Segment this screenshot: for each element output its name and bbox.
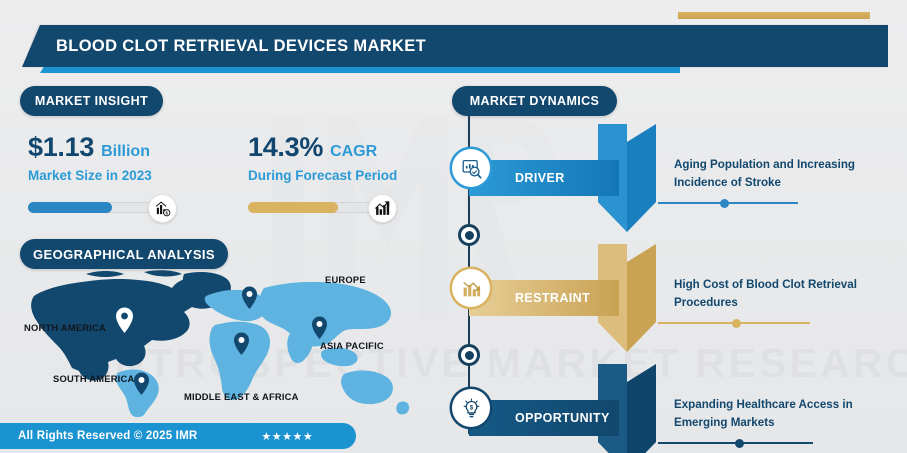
footer-bar: All Rights Reserved © 2025 IMR ★★★★★: [0, 423, 356, 449]
restraint-dot: [732, 319, 741, 328]
opportunity-dot: [735, 439, 744, 448]
restraint-text: High Cost of Blood Clot Retrieval Proced…: [674, 276, 904, 312]
geo-label-asia-pacific: ASIA PACIFIC: [320, 340, 384, 351]
stat-caption: During Forecast Period: [248, 168, 408, 183]
lightbulb-dollar-icon: $: [452, 389, 490, 427]
bar-chart-dollar-icon: $: [148, 194, 177, 223]
infographic-page: INTROSPECTIVE MARKET RESEARCH BLOOD CLOT…: [0, 0, 907, 453]
stat-market-size: $1.13 Billion Market Size in 2023 $: [28, 132, 188, 222]
svg-text:$: $: [469, 404, 473, 411]
region-europe: [205, 290, 267, 321]
rating-stars: ★★★★★: [261, 430, 313, 443]
stat-caption: Market Size in 2023: [28, 168, 188, 183]
copyright-text: All Rights Reserved © 2025 IMR: [0, 430, 197, 442]
stat-unit: CAGR: [330, 143, 377, 161]
header-gold-accent: [678, 12, 870, 19]
stat-value: $1.13: [28, 132, 94, 163]
dynamics-item-opportunity[interactable]: OPPORTUNITY $ Expanding Healthcare Acces…: [452, 390, 907, 446]
dynamics-item-restraint[interactable]: RESTRAINT High Cost of Blood Clot Retrie…: [452, 270, 907, 326]
magnifier-chart-icon: [452, 149, 490, 187]
page-title: BLOOD CLOT RETRIEVAL DEVICES MARKET: [22, 37, 426, 56]
opportunity-label: OPPORTUNITY: [515, 411, 610, 425]
progress-fill: [248, 202, 338, 213]
driver-dot: [720, 199, 729, 208]
stat-unit: Billion: [101, 143, 150, 161]
timeline-node: [458, 224, 480, 246]
header-band: BLOOD CLOT RETRIEVAL DEVICES MARKET: [22, 25, 888, 67]
region-india: [287, 333, 312, 363]
region-new-zealand: [396, 401, 409, 414]
dynamics-item-driver[interactable]: DRIVER Aging Population and Increasing I…: [452, 150, 907, 206]
stat-progress-bar: $: [28, 194, 188, 222]
driver-bar: DRIVER: [469, 160, 619, 196]
market-insight-badge: MARKET INSIGHT: [20, 86, 163, 116]
stat-value: 14.3%: [248, 132, 323, 163]
restraint-label: RESTRAINT: [515, 291, 590, 305]
geo-label-north-america: NORTH AMERICA: [24, 322, 106, 333]
growth-chart-arrow-icon: [368, 194, 397, 223]
restraint-bar: RESTRAINT: [469, 280, 619, 316]
opportunity-bar: OPPORTUNITY: [469, 400, 619, 436]
geo-label-middle-east-africa: MIDDLE EAST & AFRICA: [184, 391, 299, 402]
stat-cagr: 14.3% CAGR During Forecast Period: [248, 132, 408, 222]
market-dynamics-timeline: DRIVER Aging Population and Increasing I…: [452, 116, 907, 446]
geo-label-south-america: SOUTH AMERICA: [53, 373, 134, 384]
opportunity-text: Expanding Healthcare Access in Emerging …: [674, 396, 904, 432]
stat-progress-bar: [248, 194, 408, 222]
timeline-node: [458, 344, 480, 366]
declining-bar-chart-icon: [452, 269, 490, 307]
region-australia: [341, 371, 393, 405]
geographical-analysis-badge: GEOGRAPHICAL ANALYSIS: [20, 239, 228, 269]
region-asia: [259, 282, 391, 347]
driver-text: Aging Population and Increasing Incidenc…: [674, 156, 904, 192]
progress-fill: [28, 202, 112, 213]
driver-label: DRIVER: [515, 171, 565, 185]
geo-label-europe: EUROPE: [325, 274, 366, 285]
market-dynamics-badge: MARKET DYNAMICS: [452, 86, 617, 116]
